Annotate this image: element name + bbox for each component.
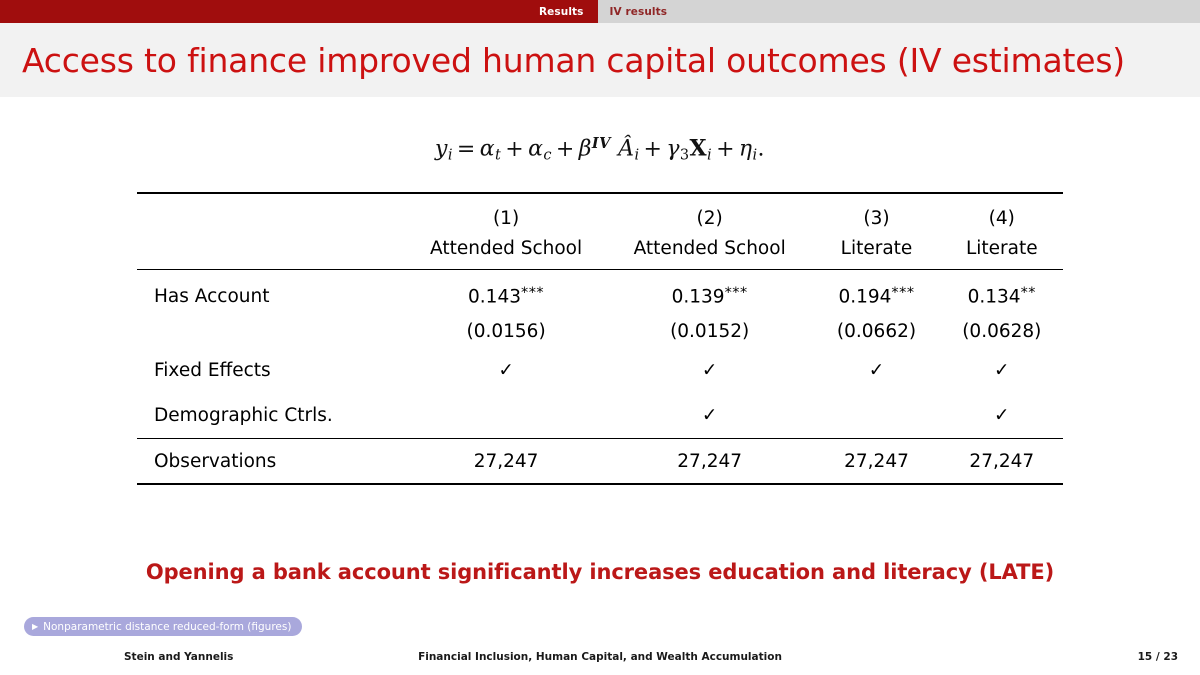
- iv-results-table: (1) (2) (3) (4) Attended School Attended…: [137, 192, 1063, 485]
- table-corner-cell: [137, 193, 405, 233]
- se-cell-2: (0.0152): [607, 314, 813, 348]
- eq-t4-sub: 3: [680, 148, 690, 164]
- obs-cell-1: 27,247: [405, 439, 607, 485]
- table-row-observations: Observations 27,247 27,247 27,247 27,247: [137, 439, 1063, 485]
- coef-value-2: 0.139: [672, 286, 725, 307]
- eq-t3-hat: Â: [618, 137, 634, 162]
- check-icon-fe-4: ✓: [941, 348, 1063, 393]
- nav-item-results-label: Results: [539, 6, 584, 18]
- column-header-name-1: Attended School: [405, 233, 607, 270]
- results-table-container: (1) (2) (3) (4) Attended School Attended…: [137, 192, 1063, 485]
- eq-t1-var: α: [480, 137, 495, 162]
- eq-t5-var: η: [739, 137, 753, 162]
- check-icon-fe-1: ✓: [405, 348, 607, 393]
- navbar-active-band: [0, 0, 600, 23]
- slide-footer: Financial Inclusion, Human Capital, and …: [0, 651, 1200, 667]
- check-icon-fe-3: ✓: [812, 348, 940, 393]
- table-row-fixed-effects: Fixed Effects ✓ ✓ ✓ ✓: [137, 348, 1063, 393]
- section-navbar: Results IV results: [0, 0, 1200, 23]
- table-row-demographic-ctrls: Demographic Ctrls. ✓ ✓: [137, 393, 1063, 439]
- table-header-numbers-row: (1) (2) (3) (4): [137, 193, 1063, 233]
- footer-page-number: 15 / 23: [1138, 651, 1178, 663]
- nav-item-iv-results-label: IV results: [610, 6, 668, 18]
- nav-item-iv-results[interactable]: IV results: [598, 0, 675, 23]
- row-label-has-account: Has Account: [137, 270, 405, 315]
- se-cell-1: (0.0156): [405, 314, 607, 348]
- obs-cell-2: 27,247: [607, 439, 813, 485]
- eq-plus-1: +: [501, 137, 528, 162]
- nav-item-results[interactable]: Results: [532, 0, 598, 23]
- check-icon-dc-4: ✓: [941, 393, 1063, 439]
- se-cell-3: (0.0662): [812, 314, 940, 348]
- coef-value-4: 0.134: [968, 286, 1021, 307]
- eq-plus-2: +: [552, 137, 579, 162]
- row-label-observations: Observations: [137, 439, 405, 485]
- coef-stars-4: **: [1021, 285, 1036, 301]
- column-header-number-3: (3): [812, 193, 940, 233]
- regression-equation: yi=αt+αc+βIV Âi+γ3Xi+ηi.: [435, 135, 765, 164]
- row-label-fixed-effects: Fixed Effects: [137, 348, 405, 393]
- eq-plus-3: +: [639, 137, 666, 162]
- coef-cell-1: 0.143***: [405, 270, 607, 315]
- coef-cell-2: 0.139***: [607, 270, 813, 315]
- nonparametric-figures-link-label: Nonparametric distance reduced-form (fig…: [43, 621, 291, 633]
- nonparametric-figures-link-button[interactable]: ▶ Nonparametric distance reduced-form (f…: [24, 617, 302, 636]
- column-header-number-4: (4): [941, 193, 1063, 233]
- eq-t3-sup: IV: [592, 135, 611, 152]
- table-row-has-account-se: (0.0156) (0.0152) (0.0662) (0.0628): [137, 314, 1063, 348]
- column-header-name-3: Literate: [812, 233, 940, 270]
- obs-cell-4: 27,247: [941, 439, 1063, 485]
- table-row-has-account-coef: Has Account 0.143*** 0.139*** 0.194*** 0…: [137, 270, 1063, 315]
- check-icon-dc-2: ✓: [607, 393, 813, 439]
- footer-authors: Stein and Yannelis: [124, 651, 233, 663]
- column-header-number-2: (2): [607, 193, 813, 233]
- slide-title-band: Access to finance improved human capital…: [0, 23, 1200, 97]
- eq-t4-var: γ: [666, 137, 680, 162]
- coef-value-3: 0.194: [838, 286, 891, 307]
- column-header-name-4: Literate: [941, 233, 1063, 270]
- navbar-filler: [674, 0, 1200, 23]
- column-header-name-2: Attended School: [607, 233, 813, 270]
- eq-t3-var: β: [579, 137, 592, 162]
- equation-container: yi=αt+αc+βIV Âi+γ3Xi+ηi.: [0, 135, 1200, 164]
- takeaway-message: Opening a bank account significantly inc…: [0, 560, 1200, 584]
- check-icon-dc-1: [405, 393, 607, 439]
- coef-stars-2: ***: [725, 285, 748, 301]
- row-label-demographic-ctrls: Demographic Ctrls.: [137, 393, 405, 439]
- eq-lhs-var: y: [435, 137, 448, 162]
- column-header-number-1: (1): [405, 193, 607, 233]
- coef-value-1: 0.143: [468, 286, 521, 307]
- eq-equals: =: [453, 137, 480, 162]
- row-label-se-blank: [137, 314, 405, 348]
- table-header-names-row: Attended School Attended School Literate…: [137, 233, 1063, 270]
- eq-t2-var: α: [528, 137, 543, 162]
- eq-plus-4: +: [712, 137, 739, 162]
- coef-cell-3: 0.194***: [812, 270, 940, 315]
- check-icon-dc-3: [812, 393, 940, 439]
- table-corner-cell-2: [137, 233, 405, 270]
- eq-t2-sub: c: [543, 148, 552, 164]
- check-icon-fe-2: ✓: [607, 348, 813, 393]
- coef-stars-1: ***: [521, 285, 544, 301]
- coef-stars-3: ***: [891, 285, 914, 301]
- coef-cell-4: 0.134**: [941, 270, 1063, 315]
- se-cell-4: (0.0628): [941, 314, 1063, 348]
- obs-cell-3: 27,247: [812, 439, 940, 485]
- eq-period: .: [758, 137, 765, 162]
- play-triangle-icon: ▶: [32, 623, 38, 631]
- page-title: Access to finance improved human capital…: [0, 41, 1125, 80]
- eq-t4-bold: X: [690, 136, 707, 162]
